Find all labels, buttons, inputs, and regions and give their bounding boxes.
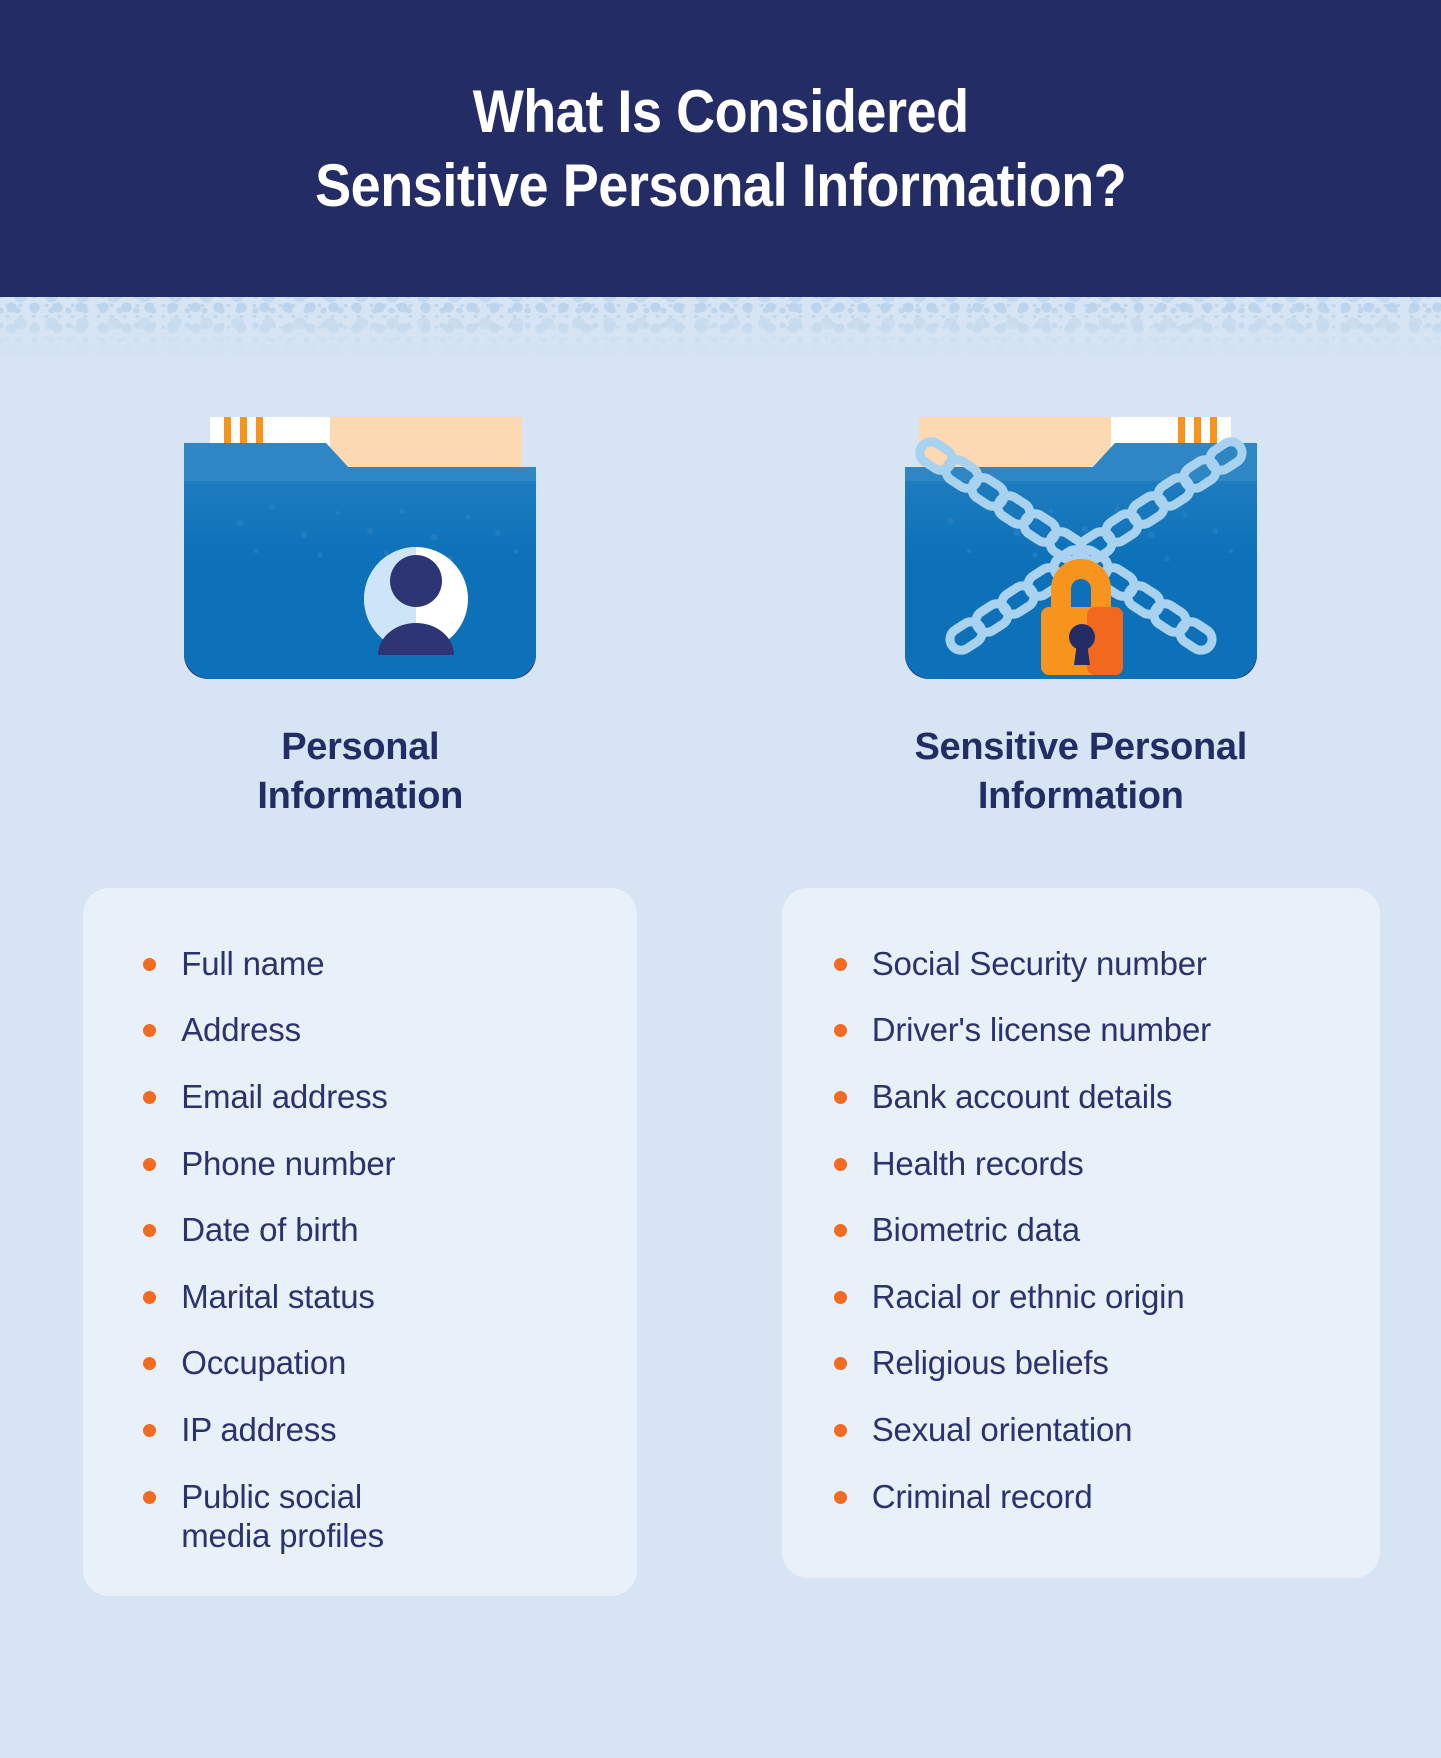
list-item: Date of birth xyxy=(143,1210,597,1250)
list-item: Address xyxy=(143,1010,597,1050)
personal-information-card: Full name Address Email address Phone nu… xyxy=(83,888,637,1596)
comparison-columns: Personal Information Full name Address E… xyxy=(0,357,1441,1758)
sensitive-information-card: Social Security number Driver's license … xyxy=(782,888,1380,1578)
list-item-label: Phone number xyxy=(181,1145,395,1182)
bullet-dot-icon xyxy=(834,1224,847,1237)
personal-information-list: Full name Address Email address Phone nu… xyxy=(143,944,597,1556)
bullet-dot-icon xyxy=(834,958,847,971)
bullet-dot-icon xyxy=(834,1024,847,1037)
column-heading-sensitive-personal-information: Sensitive Personal Information xyxy=(914,723,1247,820)
list-item: Public social media profiles xyxy=(143,1477,597,1556)
list-item: Social Security number xyxy=(834,944,1346,984)
bullet-dot-icon xyxy=(834,1357,847,1370)
bullet-dot-icon xyxy=(143,1424,156,1437)
list-item-label: IP address xyxy=(181,1411,336,1448)
list-item: Health records xyxy=(834,1144,1346,1184)
list-item-label: Bank account details xyxy=(872,1078,1173,1115)
list-item-label: Driver's license number xyxy=(872,1011,1211,1048)
column-heading-personal-information: Personal Information xyxy=(257,723,463,820)
bullet-dot-icon xyxy=(834,1158,847,1171)
list-item-label: Health records xyxy=(872,1145,1084,1182)
speckle-texture-band xyxy=(0,297,1441,357)
sensitive-information-folder-illustration xyxy=(901,403,1261,693)
page-header: What Is Considered Sensitive Personal In… xyxy=(0,0,1441,297)
bullet-dot-icon xyxy=(834,1491,847,1504)
list-item: Biometric data xyxy=(834,1210,1346,1250)
list-item: Sexual orientation xyxy=(834,1410,1346,1450)
bullet-dot-icon xyxy=(834,1424,847,1437)
list-item: Criminal record xyxy=(834,1477,1346,1517)
list-item-label: Date of birth xyxy=(181,1211,358,1248)
list-item: Driver's license number xyxy=(834,1010,1346,1050)
bullet-dot-icon xyxy=(143,1224,156,1237)
list-item: Full name xyxy=(143,944,597,984)
list-item-label: Racial or ethnic origin xyxy=(872,1278,1185,1315)
bullet-dot-icon xyxy=(834,1091,847,1104)
bullet-dot-icon xyxy=(834,1291,847,1304)
sensitive-information-list: Social Security number Driver's license … xyxy=(834,944,1346,1516)
list-item: Religious beliefs xyxy=(834,1343,1346,1383)
list-item: Occupation xyxy=(143,1343,597,1383)
column-sensitive-personal-information: Sensitive Personal Information Social Se… xyxy=(721,357,1441,1758)
personal-information-folder-illustration xyxy=(180,403,540,693)
bullet-dot-icon xyxy=(143,1024,156,1037)
list-item-label: Occupation xyxy=(181,1344,346,1381)
bullet-dot-icon xyxy=(143,1291,156,1304)
list-item-label: Marital status xyxy=(181,1278,374,1315)
list-item-label: Criminal record xyxy=(872,1478,1093,1515)
list-item: Bank account details xyxy=(834,1077,1346,1117)
list-item: Racial or ethnic origin xyxy=(834,1277,1346,1317)
bullet-dot-icon xyxy=(143,958,156,971)
page-title: What Is Considered Sensitive Personal In… xyxy=(315,75,1126,221)
list-item: Marital status xyxy=(143,1277,597,1317)
bullet-dot-icon xyxy=(143,1357,156,1370)
list-item-label: Biometric data xyxy=(872,1211,1080,1248)
column-personal-information: Personal Information Full name Address E… xyxy=(0,357,721,1758)
list-item: IP address xyxy=(143,1410,597,1450)
list-item-label: Email address xyxy=(181,1078,388,1115)
list-item-label: Social Security number xyxy=(872,945,1207,982)
list-item-label: Sexual orientation xyxy=(872,1411,1133,1448)
bullet-dot-icon xyxy=(143,1091,156,1104)
list-item-label: Full name xyxy=(181,945,324,982)
list-item: Email address xyxy=(143,1077,597,1117)
list-item-label: Address xyxy=(181,1011,301,1048)
bullet-dot-icon xyxy=(143,1491,156,1504)
list-item-label: Public social media profiles xyxy=(181,1477,384,1556)
list-item: Phone number xyxy=(143,1144,597,1184)
bullet-dot-icon xyxy=(143,1158,156,1171)
list-item-label: Religious beliefs xyxy=(872,1344,1109,1381)
